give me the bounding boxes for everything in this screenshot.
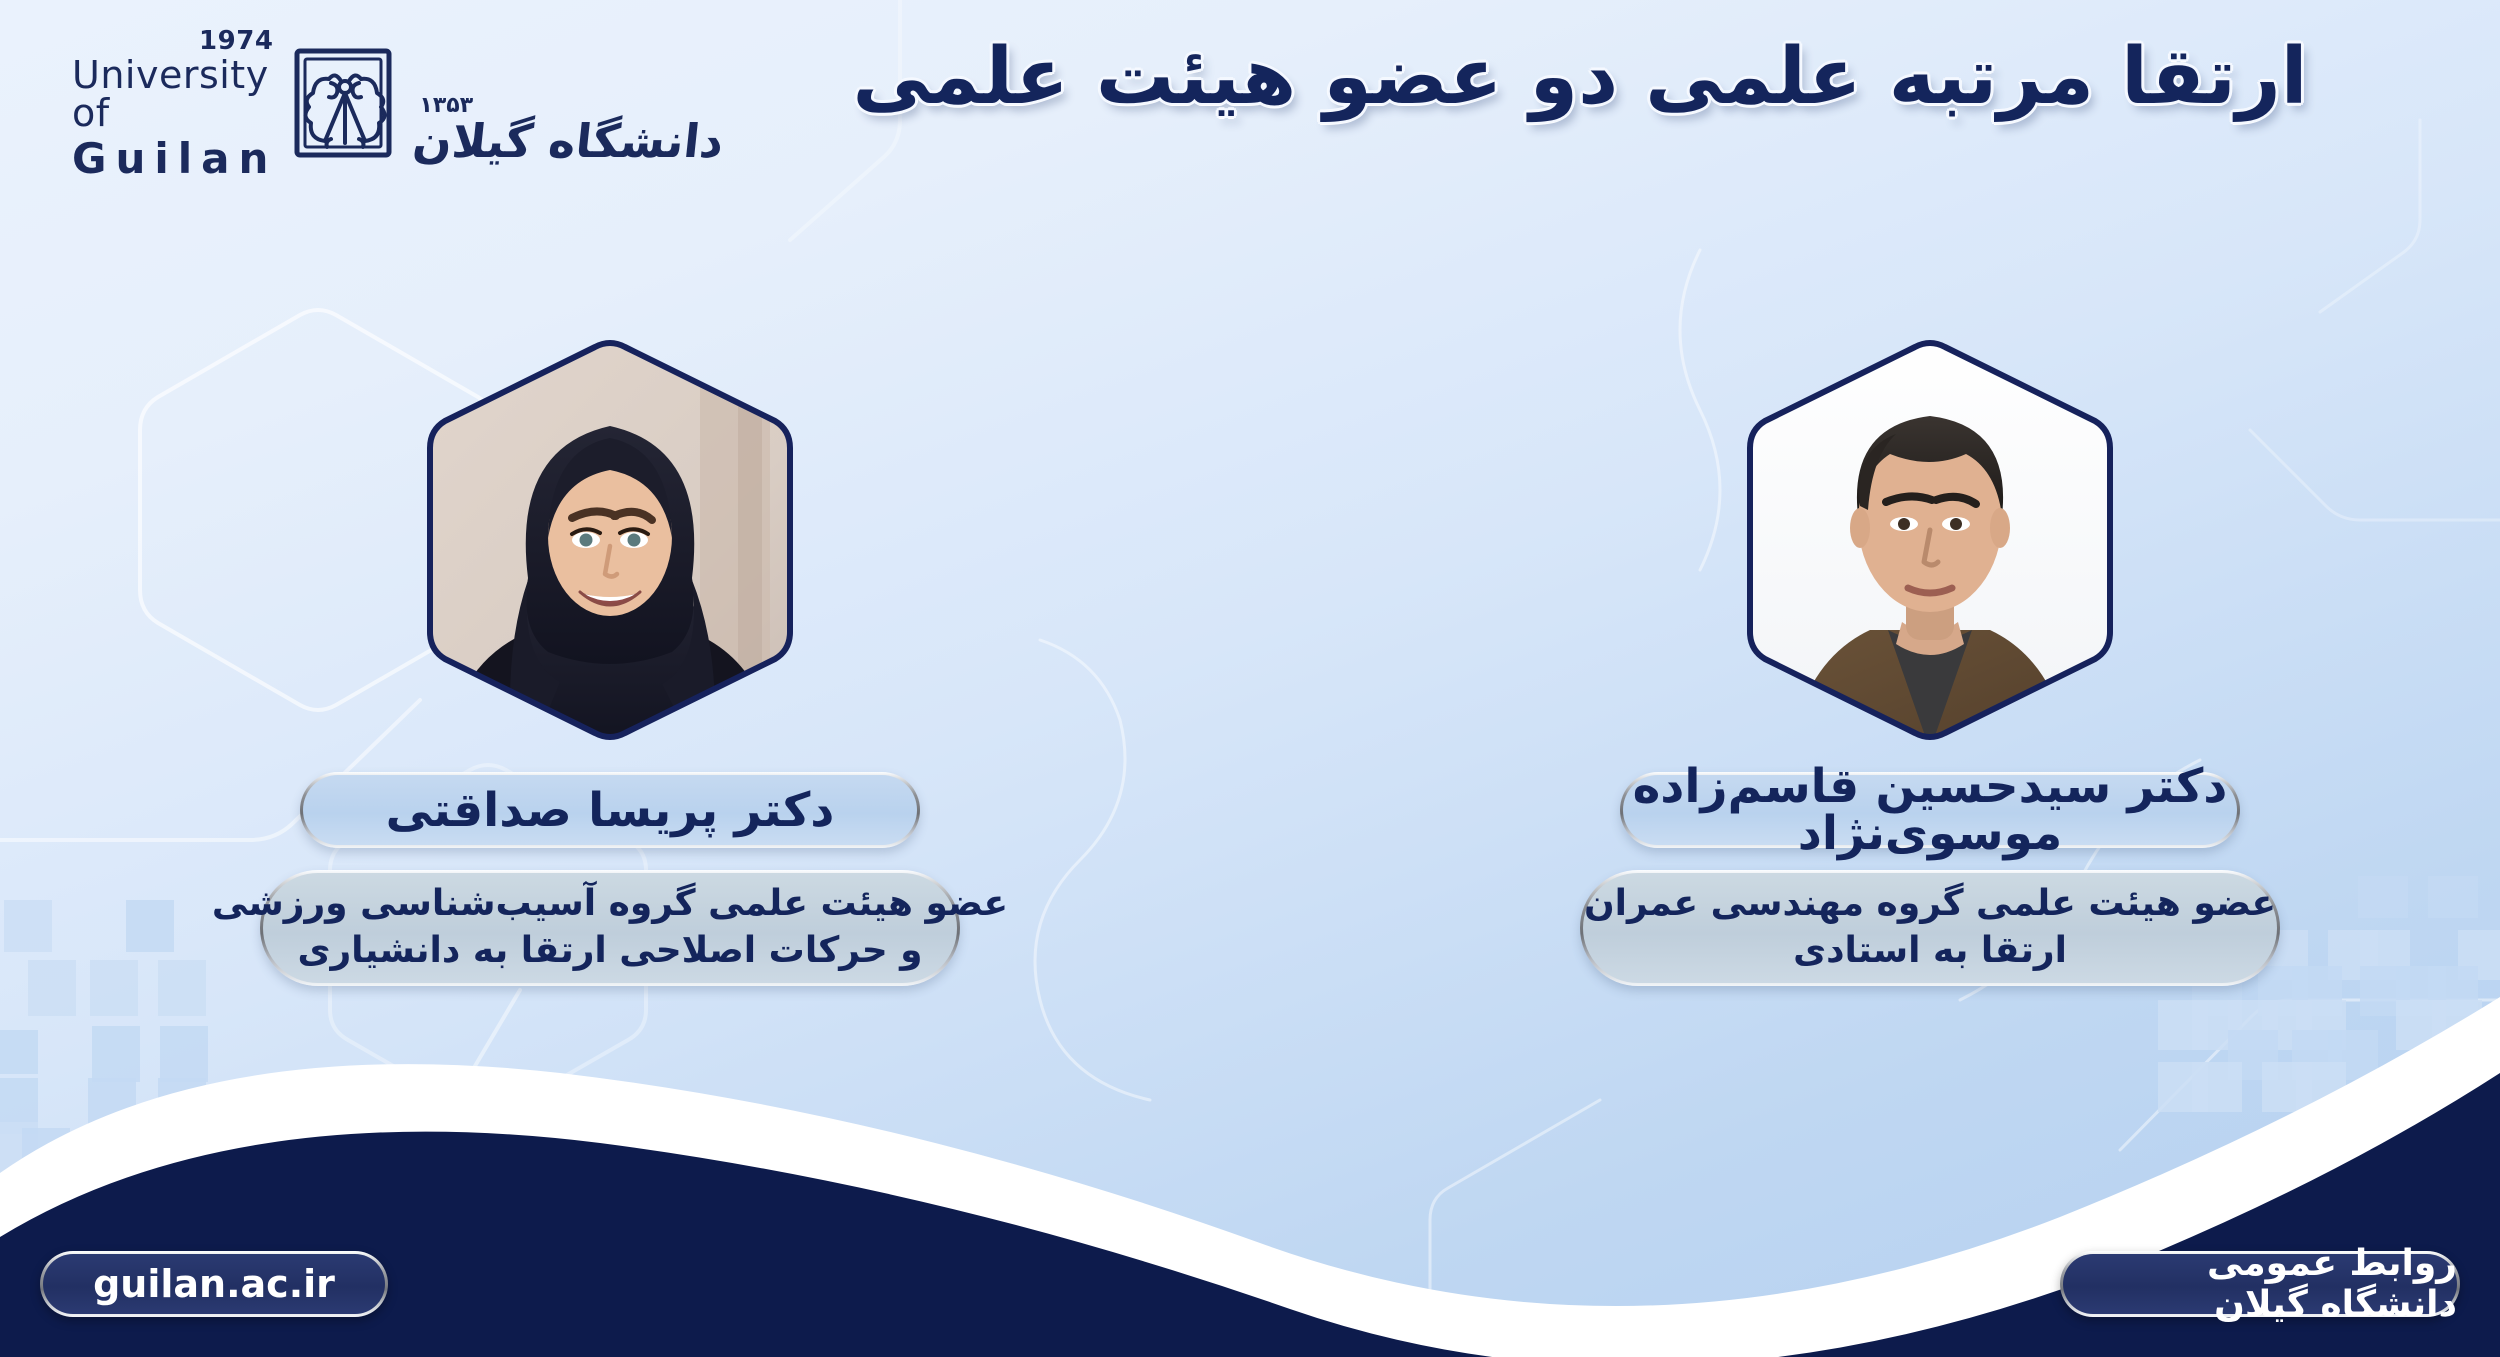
logo-english-text: 1974 University of Guilan bbox=[72, 28, 277, 180]
faculty-name-left: دکتر پریسا صداقتی bbox=[300, 772, 920, 848]
logo-line-university-of: University of bbox=[72, 56, 277, 132]
portrait-frame-female bbox=[400, 330, 820, 750]
logo-persian-text: ۱۳۵۳ دانشگاه گیلان bbox=[413, 44, 723, 164]
faculty-card-right: دکتر سیدحسین قاسم‌زاده موسوی‌نژاد عضو هی… bbox=[1520, 330, 2340, 986]
university-logo: 1974 University of Guilan ۱۳۵۳ دانشگاه گ… bbox=[72, 34, 542, 174]
logo-line-guilan: Guilan bbox=[72, 138, 277, 180]
logo-year-gregorian: 1974 bbox=[199, 28, 273, 54]
faculty-card-left: دکتر پریسا صداقتی عضو هیئت علمی گروه آسی… bbox=[200, 330, 1020, 986]
faculty-role-right-line1: عضو هیئت علمی گروه مهندسی عمران bbox=[1584, 881, 2276, 928]
faculty-role-left-line1: عضو هیئت علمی گروه آسیب‌شناسی ورزشی bbox=[212, 881, 1008, 928]
guilan-emblem-icon bbox=[291, 43, 399, 165]
page-title: ارتقا مرتبه علمی دو عضو هیئت علمی bbox=[770, 28, 2390, 128]
poster-canvas: 1974 University of Guilan ۱۳۵۳ دانشگاه گ… bbox=[0, 0, 2500, 1357]
portrait-frame-male bbox=[1720, 330, 2140, 750]
logo-university-name-fa: دانشگاه گیلان bbox=[411, 118, 726, 164]
portrait-photo-male bbox=[1720, 330, 2140, 750]
website-badge[interactable]: guilan.ac.ir bbox=[40, 1251, 388, 1317]
portrait-photo-female bbox=[400, 330, 820, 750]
faculty-name-right: دکتر سیدحسین قاسم‌زاده موسوی‌نژاد bbox=[1620, 772, 2240, 848]
public-relations-badge: روابط عمومی دانشگاه گیلان bbox=[2060, 1251, 2460, 1317]
